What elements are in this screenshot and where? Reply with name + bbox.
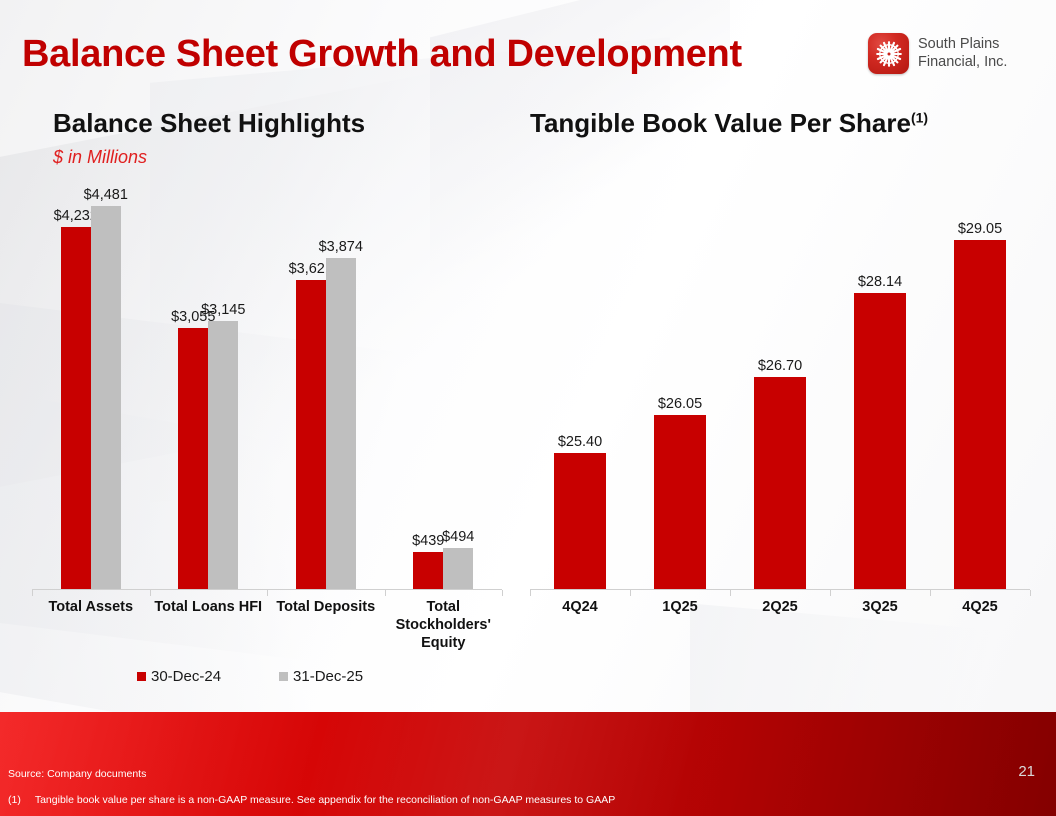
legend-label: 31-Dec-25 bbox=[293, 668, 363, 685]
category-label: Total Stockholders' Equity bbox=[385, 598, 503, 652]
right-chart-axis-line bbox=[530, 589, 1030, 590]
axis-tick bbox=[530, 590, 531, 596]
bar: $3,055 bbox=[178, 328, 208, 590]
bar-value-label: $4,481 bbox=[84, 187, 128, 203]
legend-label: 30-Dec-24 bbox=[151, 668, 221, 685]
footnote-marker: (1) bbox=[8, 794, 21, 806]
tangible-book-value-chart: $25.40$26.05$26.70$28.14$29.05 4Q241Q252… bbox=[530, 190, 1030, 660]
bar-value-label: $3,874 bbox=[319, 239, 363, 255]
legend-swatch bbox=[279, 672, 288, 681]
logo-text-line2: Financial, Inc. bbox=[918, 54, 1007, 71]
axis-tick bbox=[630, 590, 631, 596]
bar-value-label: $439 bbox=[412, 533, 444, 549]
category-label: 3Q25 bbox=[830, 598, 930, 616]
balance-sheet-highlights-chart: $4,232$4,481$3,055$3,145$3,621$3,874$439… bbox=[32, 190, 502, 700]
bar-pair: $3,055$3,145 bbox=[150, 198, 268, 590]
legend-swatch bbox=[137, 672, 146, 681]
page-title: Balance Sheet Growth and Development bbox=[22, 33, 742, 76]
page-number: 21 bbox=[1018, 763, 1035, 780]
left-panel-title: Balance Sheet Highlights bbox=[53, 108, 365, 139]
bar-pair: $29.05 bbox=[930, 198, 1030, 590]
bar: $4,232 bbox=[61, 227, 91, 590]
footnote-text: Tangible book value per share is a non-G… bbox=[35, 794, 615, 806]
left-chart-plot-area: $4,232$4,481$3,055$3,145$3,621$3,874$439… bbox=[32, 198, 502, 590]
bar-group: $29.05 bbox=[930, 198, 1030, 590]
left-chart-bars: $4,232$4,481$3,055$3,145$3,621$3,874$439… bbox=[32, 198, 502, 590]
bar: $439 bbox=[413, 552, 443, 590]
logo-text-line1: South Plains bbox=[918, 36, 1007, 53]
bar-group: $3,621$3,874 bbox=[267, 198, 385, 590]
axis-tick bbox=[150, 590, 151, 596]
bar: $25.40 bbox=[554, 453, 606, 590]
bar-value-label: $28.14 bbox=[858, 274, 902, 290]
category-label: 1Q25 bbox=[630, 598, 730, 616]
bar: $26.70 bbox=[754, 377, 806, 590]
legend-item[interactable]: 30-Dec-24 bbox=[137, 668, 221, 685]
right-chart-category-labels: 4Q241Q252Q253Q254Q25 bbox=[530, 598, 1030, 616]
right-panel-footnote-marker: (1) bbox=[911, 109, 928, 125]
slide-header: Balance Sheet Growth and Development bbox=[0, 0, 1056, 96]
right-chart-plot-area: $25.40$26.05$26.70$28.14$29.05 bbox=[530, 198, 1030, 590]
bar-value-label: $26.70 bbox=[758, 358, 802, 374]
bar: $4,481 bbox=[91, 206, 121, 590]
bar-value-label: $25.40 bbox=[558, 434, 602, 450]
slide: Balance Sheet Growth and Development bbox=[0, 0, 1056, 816]
wagon-wheel-icon bbox=[868, 33, 909, 74]
bar-value-label: $29.05 bbox=[958, 221, 1002, 237]
bar-pair: $26.05 bbox=[630, 198, 730, 590]
axis-tick bbox=[830, 590, 831, 596]
axis-tick bbox=[502, 590, 503, 596]
category-label: Total Assets bbox=[32, 598, 150, 652]
category-label: 4Q25 bbox=[930, 598, 1030, 616]
footnote-row: (1) Tangible book value per share is a n… bbox=[8, 794, 615, 806]
bar: $29.05 bbox=[954, 240, 1006, 590]
category-label: 4Q24 bbox=[530, 598, 630, 616]
bar-value-label: $494 bbox=[442, 529, 474, 545]
axis-tick bbox=[267, 590, 268, 596]
bar-group: $439$494 bbox=[385, 198, 503, 590]
bar-pair: $25.40 bbox=[530, 198, 630, 590]
legend-item[interactable]: 31-Dec-25 bbox=[279, 668, 363, 685]
axis-tick bbox=[930, 590, 931, 596]
axis-tick bbox=[730, 590, 731, 596]
axis-tick bbox=[32, 590, 33, 596]
category-label: Total Loans HFI bbox=[150, 598, 268, 652]
bar: $3,621 bbox=[296, 280, 326, 590]
right-panel-title: Tangible Book Value Per Share(1) bbox=[530, 108, 928, 139]
bar-pair: $26.70 bbox=[730, 198, 830, 590]
bar-value-label: $26.05 bbox=[658, 396, 702, 412]
bar-group: $3,055$3,145 bbox=[150, 198, 268, 590]
right-panel-title-text: Tangible Book Value Per Share bbox=[530, 108, 911, 138]
bar-pair: $28.14 bbox=[830, 198, 930, 590]
bar-group: $28.14 bbox=[830, 198, 930, 590]
axis-tick bbox=[1030, 590, 1031, 596]
left-panel-subtitle: $ in Millions bbox=[53, 147, 147, 168]
bar: $3,874 bbox=[326, 258, 356, 590]
bar-pair: $3,621$3,874 bbox=[267, 198, 385, 590]
bar-group: $4,232$4,481 bbox=[32, 198, 150, 590]
bar-value-label: $3,145 bbox=[201, 302, 245, 318]
left-chart-category-labels: Total AssetsTotal Loans HFITotal Deposit… bbox=[32, 598, 502, 652]
bar: $3,145 bbox=[208, 321, 238, 591]
axis-tick bbox=[385, 590, 386, 596]
left-chart-legend: 30-Dec-2431-Dec-25 bbox=[137, 668, 363, 685]
bar: $494 bbox=[443, 548, 473, 590]
bar: $26.05 bbox=[654, 415, 706, 590]
bar: $28.14 bbox=[854, 293, 906, 590]
bar-group: $25.40 bbox=[530, 198, 630, 590]
right-chart-bars: $25.40$26.05$26.70$28.14$29.05 bbox=[530, 198, 1030, 590]
category-label: 2Q25 bbox=[730, 598, 830, 616]
bar-pair: $4,232$4,481 bbox=[32, 198, 150, 590]
logo-text: South Plains Financial, Inc. bbox=[918, 36, 1007, 70]
category-label: Total Deposits bbox=[267, 598, 385, 652]
bar-group: $26.70 bbox=[730, 198, 830, 590]
bar-group: $26.05 bbox=[630, 198, 730, 590]
source-note: Source: Company documents bbox=[8, 768, 146, 780]
bar-pair: $439$494 bbox=[385, 198, 503, 590]
company-logo: South Plains Financial, Inc. bbox=[868, 33, 1007, 74]
